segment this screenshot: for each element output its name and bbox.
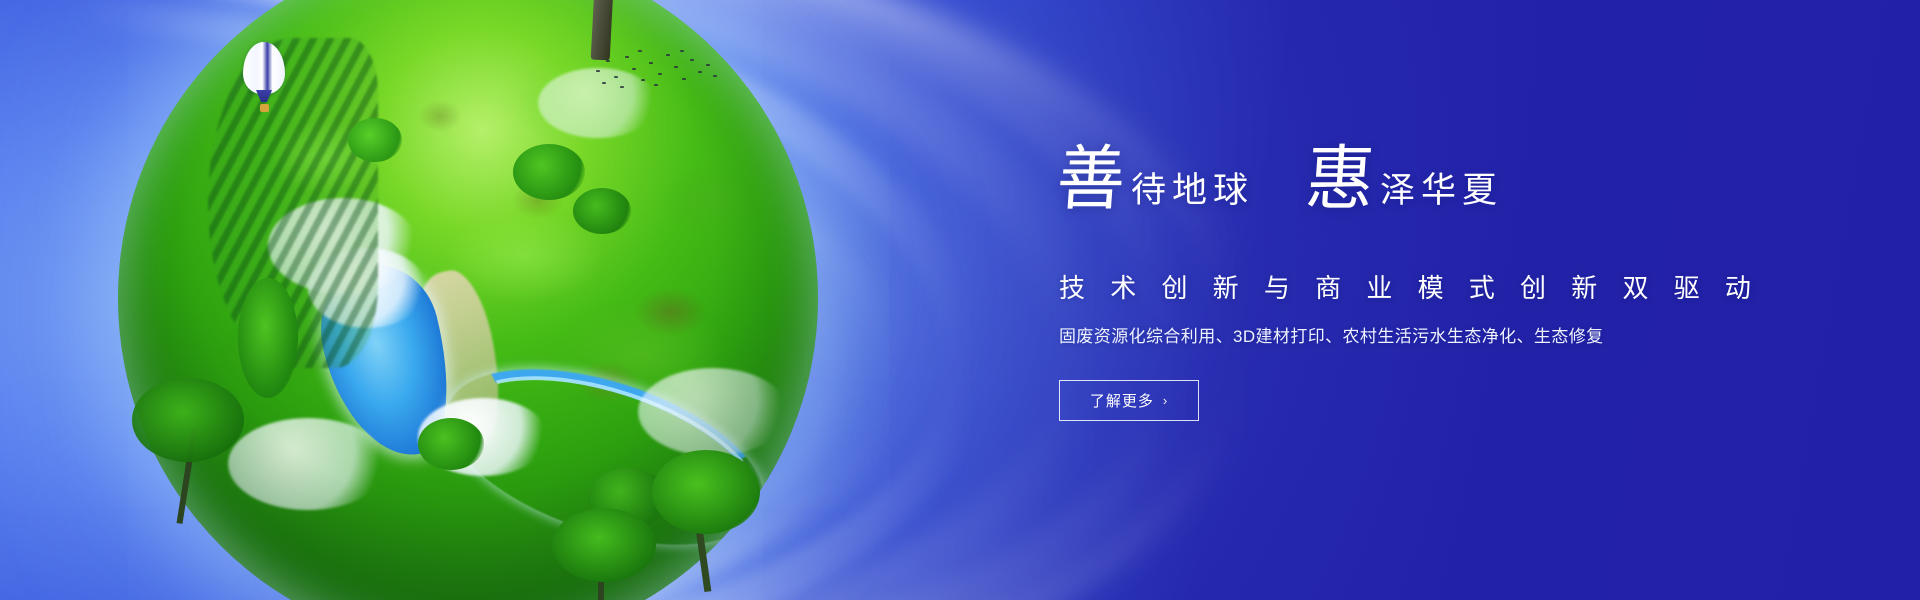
balloon-envelope	[243, 42, 285, 94]
tree-icon	[548, 508, 658, 600]
chevron-right-icon: ›	[1163, 393, 1168, 408]
hot-air-balloon-icon	[243, 42, 285, 120]
learn-more-button[interactable]: 了解更多 ›	[1059, 380, 1199, 421]
headline-group-2: 惠 泽华夏	[1306, 146, 1503, 214]
tree-icon	[128, 378, 248, 528]
learn-more-label: 了解更多	[1090, 390, 1154, 411]
headline-group-1: 善 待地球	[1057, 146, 1254, 214]
balloon-basket	[260, 104, 269, 112]
headline-big-char-2: 惠	[1304, 145, 1377, 216]
banner-content: 善 待地球 惠 泽华夏 技 术 创 新 与 商 业 模 式 创 新 双 驱 动 …	[1057, 0, 1837, 600]
headline-big-char-1: 善	[1055, 145, 1128, 216]
banner-subtitle: 技 术 创 新 与 商 业 模 式 创 新 双 驱 动	[1059, 271, 1760, 305]
bird-flock-icon	[592, 48, 722, 94]
headline-small-text-1: 待地球	[1125, 174, 1254, 214]
headline-small-text-2: 泽华夏	[1374, 174, 1503, 214]
balloon-skirt	[256, 90, 272, 102]
headline: 善 待地球 惠 泽华夏	[1057, 146, 1503, 214]
banner-description: 固废资源化综合利用、3D建材打印、农村生活污水生态净化、生态修复	[1059, 324, 1604, 350]
tree-icon	[646, 444, 766, 594]
hero-banner: 善 待地球 惠 泽华夏 技 术 创 新 与 商 业 模 式 创 新 双 驱 动 …	[0, 0, 1920, 600]
